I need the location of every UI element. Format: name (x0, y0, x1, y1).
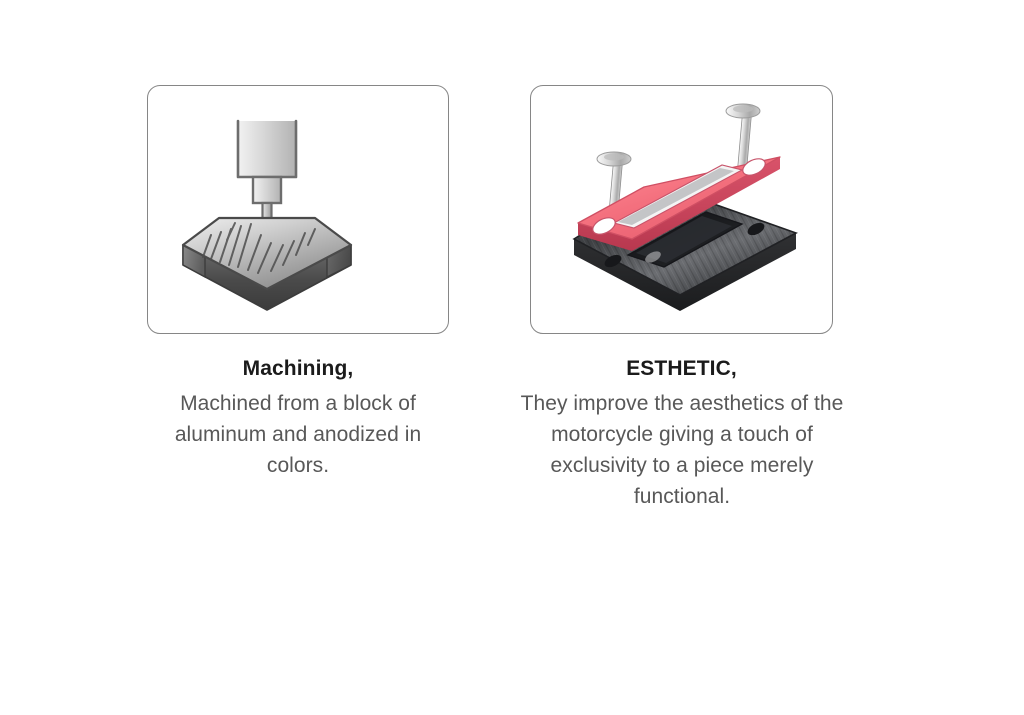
feature-card-machining: Machining, Machined from a block of alum… (147, 85, 449, 481)
feature-showcase-page: Machining, Machined from a block of alum… (0, 0, 1024, 715)
anodized-plate-icon (556, 99, 808, 321)
machining-title: Machining, (147, 356, 449, 381)
esthetic-description: They improve the aesthetics of the motor… (517, 388, 847, 512)
esthetic-text-block: ESTHETIC, They improve the aesthetics of… (530, 356, 833, 513)
feature-card-esthetic: ESTHETIC, They improve the aesthetics of… (530, 85, 833, 513)
aluminum-workpiece (183, 218, 351, 310)
machining-description: Machined from a block of aluminum and an… (148, 388, 448, 481)
machining-text-block: Machining, Machined from a block of alum… (147, 356, 449, 481)
esthetic-title: ESTHETIC, (530, 356, 833, 381)
machining-icon-card (147, 85, 449, 334)
cnc-milling-icon (175, 105, 421, 315)
esthetic-icon-card (530, 85, 833, 334)
